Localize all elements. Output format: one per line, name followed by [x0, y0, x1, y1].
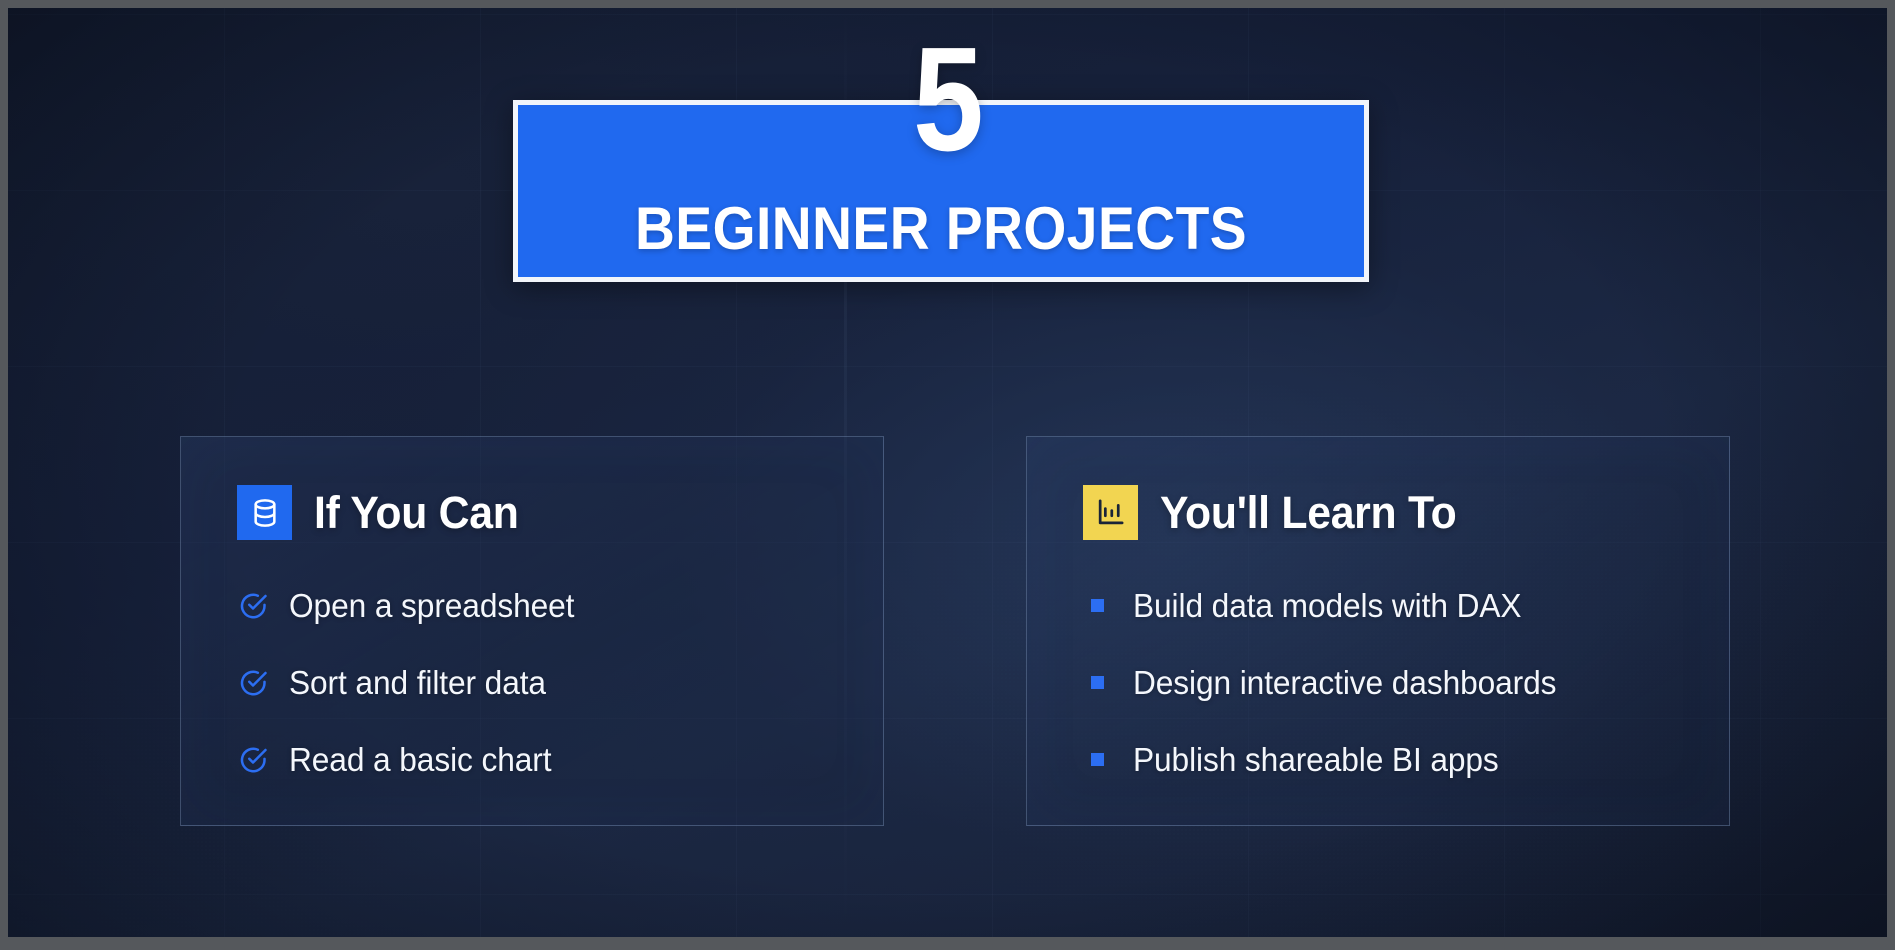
square-bullet-icon	[1091, 753, 1104, 766]
list-item: Build data models with DAX	[1083, 577, 1705, 634]
list-item: Open a spreadsheet	[237, 577, 859, 634]
database-icon	[237, 485, 292, 540]
benefit-list: Open a spreadsheet Sort and filter data	[237, 577, 859, 808]
card-title: If You Can	[314, 490, 519, 535]
list-item-label: Read a basic chart	[289, 743, 551, 776]
check-circle-icon	[237, 590, 269, 622]
square-bullet-icon	[1091, 676, 1104, 689]
square-bullet-icon	[1091, 599, 1104, 612]
list-item-label: Build data models with DAX	[1133, 589, 1521, 622]
list-item: Sort and filter data	[237, 654, 859, 711]
outer-frame: BEGINNER PROJECTS 5 If You Can	[0, 0, 1895, 950]
check-circle-icon	[237, 667, 269, 699]
outcome-list: Build data models with DAX Design intera…	[1083, 577, 1705, 808]
bar-chart-icon	[1083, 485, 1138, 540]
list-item-label: Open a spreadsheet	[289, 589, 574, 622]
list-item: Design interactive dashboards	[1083, 654, 1705, 711]
hero-title: BEGINNER PROJECTS	[552, 199, 1330, 259]
list-item-label: Publish shareable BI apps	[1133, 743, 1499, 776]
hero-number: 5	[140, 36, 1756, 163]
check-circle-icon	[237, 744, 269, 776]
card-header: You'll Learn To	[1083, 485, 1472, 540]
card-if-you-can: If You Can Open a spreadsheet	[180, 436, 884, 826]
card-youll-learn-to: You'll Learn To Build data models with D…	[1026, 436, 1730, 826]
list-item: Publish shareable BI apps	[1083, 731, 1705, 788]
card-title: You'll Learn To	[1160, 490, 1456, 535]
list-item-label: Design interactive dashboards	[1133, 666, 1556, 699]
list-item: Read a basic chart	[237, 731, 859, 788]
list-item-label: Sort and filter data	[289, 666, 546, 699]
card-header: If You Can	[237, 485, 529, 540]
slide-canvas: BEGINNER PROJECTS 5 If You Can	[8, 8, 1887, 937]
